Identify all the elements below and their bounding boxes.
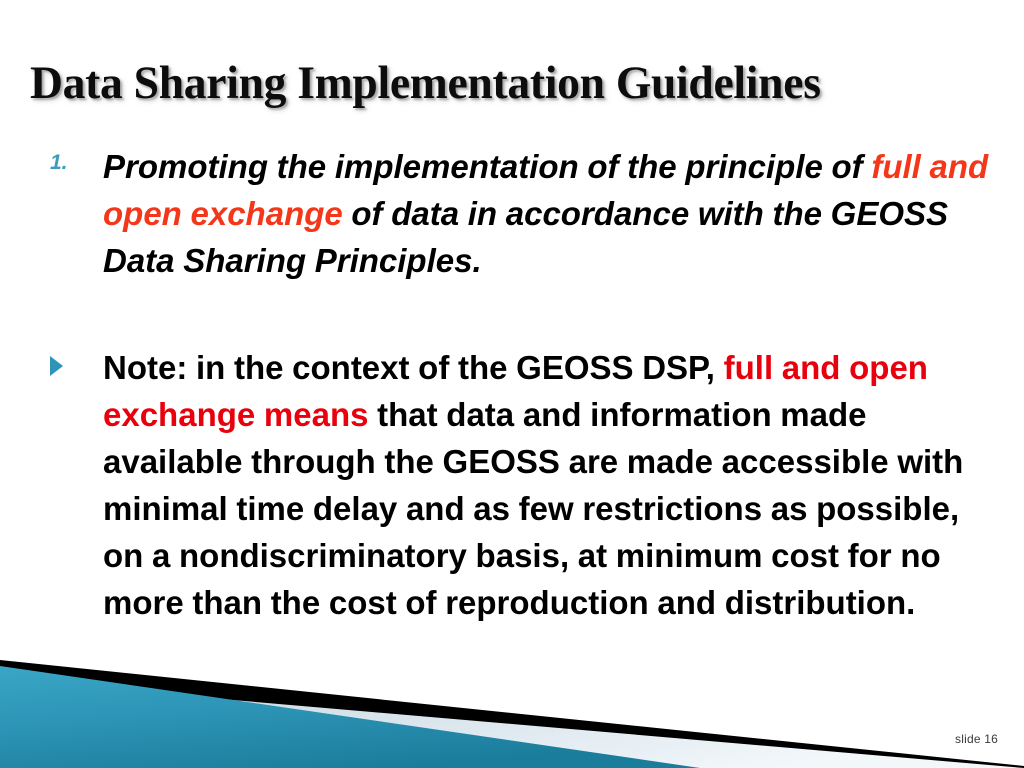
slide-canvas: Data Sharing Implementation Guidelines 1… [0, 0, 1024, 768]
list-item: Note: in the context of the GEOSS DSP, f… [0, 344, 1024, 626]
list-item-text: Promoting the implementation of the prin… [103, 143, 994, 284]
page-title: Data Sharing Implementation Guidelines [30, 54, 961, 112]
list-item-text: Note: in the context of the GEOSS DSP, f… [103, 344, 994, 626]
list-marker-number: 1. [0, 143, 103, 183]
content-body: 1. Promoting the implementation of the p… [0, 143, 1024, 626]
corner-wedge-graphic [0, 638, 1024, 768]
list-marker-triangle [0, 344, 103, 388]
slide-number-footer: slide 16 [955, 732, 998, 746]
text-segment-plain: Note: in the context of the GEOSS DSP, [103, 349, 724, 386]
title-block: Data Sharing Implementation Guidelines [0, 54, 1024, 124]
pale-blue-wedge [0, 678, 1024, 768]
black-diagonal-stripe [0, 660, 1024, 768]
teal-wedge [0, 666, 700, 768]
list-item: 1. Promoting the implementation of the p… [0, 143, 1024, 284]
list-marker-label: 1. [50, 151, 68, 174]
text-segment-plain: Promoting the implementation of the prin… [103, 148, 871, 185]
triangle-bullet-icon [50, 357, 63, 374]
